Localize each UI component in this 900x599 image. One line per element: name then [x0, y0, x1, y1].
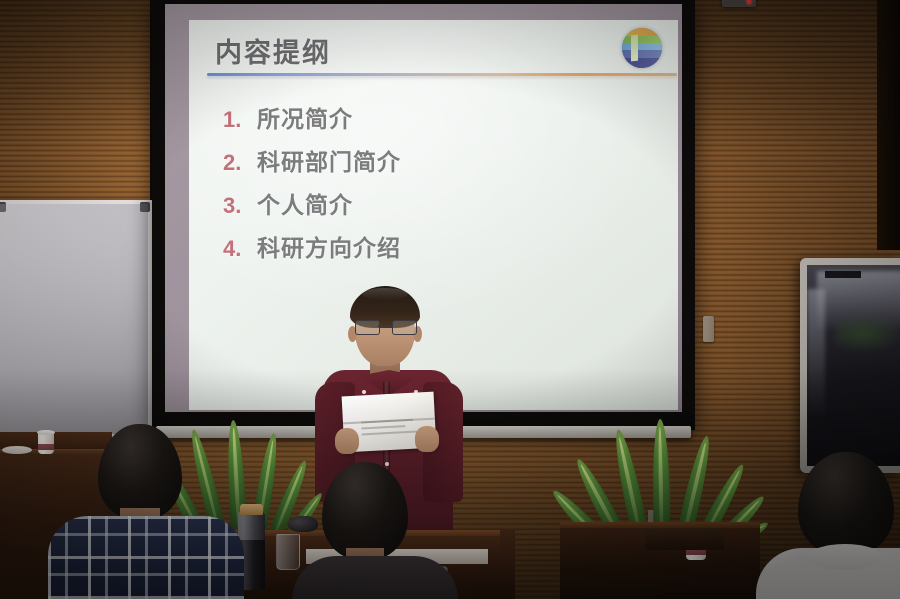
slide-outline-list: 1. 所况简介 2. 科研部门简介 3. 个人简介 4. 科研方向介绍: [223, 100, 658, 272]
wall-right-dark-edge: [877, 0, 900, 250]
glass-tumbler: [276, 534, 300, 570]
audience-torso-dark: [292, 556, 458, 599]
monitor-screen: [807, 265, 900, 466]
presenter-left-hand: [335, 428, 359, 454]
logo-flag-mark: [631, 35, 638, 62]
list-item-label: 个人简介: [257, 186, 353, 220]
audience-torso-plaid: [48, 516, 244, 599]
paper-text-line: [361, 425, 405, 429]
list-item-number: 4.: [223, 236, 257, 262]
whiteboard-corner: [140, 202, 150, 212]
list-item: 1. 所况简介: [223, 100, 658, 134]
collar-button: [362, 390, 366, 394]
list-item-number: 1.: [223, 107, 257, 133]
list-item-label: 科研方向介绍: [257, 229, 401, 263]
list-item: 4. 科研方向介绍: [223, 229, 658, 263]
wall-switch-plate[interactable]: [703, 316, 714, 342]
slide-title-underline-glow: [207, 76, 677, 78]
paper-cup-left-desk: [38, 432, 54, 454]
institute-emblem-logo: [622, 28, 662, 68]
slide-title: 内容提纲: [215, 31, 331, 70]
saucer-left-desk: [2, 446, 32, 454]
presenter-right-hand: [415, 426, 439, 452]
paper-text-line: [362, 431, 418, 435]
glasses-lens: [392, 320, 417, 335]
list-item-label: 科研部门简介: [257, 143, 401, 177]
whiteboard-corner: [0, 202, 6, 212]
audience-head: [798, 452, 894, 556]
list-item-label: 所况简介: [257, 100, 353, 134]
list-item: 2. 科研部门简介: [223, 143, 658, 177]
logo-bands: [622, 28, 662, 68]
wall-monitor[interactable]: [800, 258, 900, 473]
monitor-bezel-detail: [825, 271, 861, 278]
presenter-glasses: [355, 320, 415, 333]
audience-center: [300, 462, 450, 599]
whiteboard: [0, 200, 152, 438]
led-indicator: [747, 0, 751, 4]
ceiling-sensor-led: [722, 0, 756, 7]
glasses-lens: [355, 320, 380, 335]
thermos-cap: [240, 504, 263, 515]
audience-head: [98, 424, 182, 520]
audience-right: [768, 452, 900, 599]
list-item: 3. 个人简介: [223, 186, 658, 220]
audience-collar: [808, 544, 882, 570]
list-item-number: 3.: [223, 193, 257, 219]
audience-head: [322, 462, 408, 560]
monitor-reflection: [807, 289, 825, 419]
presentation-room-photo: 内容提纲 1. 所况简介: [0, 0, 900, 599]
plant-pot-right: [646, 528, 724, 550]
thermos-glass-body: [238, 512, 265, 540]
audience-left: [62, 424, 232, 599]
glasses-bridge: [378, 325, 392, 327]
cup-rim: [37, 430, 55, 435]
logo-band-deep: [622, 58, 662, 68]
monitor-reflection: [835, 313, 900, 353]
list-item-number: 2.: [223, 150, 257, 176]
